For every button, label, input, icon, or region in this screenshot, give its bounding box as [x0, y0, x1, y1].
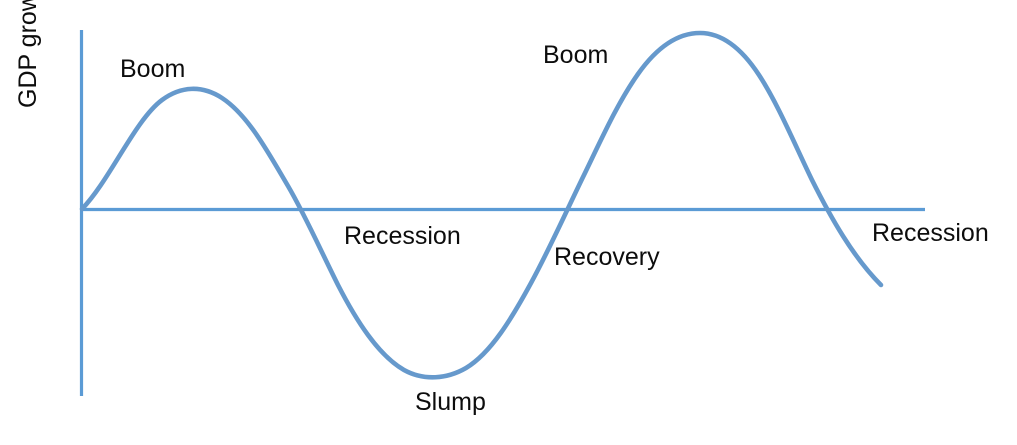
business-cycle-chart: GDP growth Boom Recession Slump Recovery…	[0, 0, 1017, 445]
annotation-recession-second: Recession	[872, 221, 989, 246]
annotation-slump: Slump	[415, 390, 486, 415]
annotation-boom-second: Boom	[543, 43, 608, 68]
y-axis-title: GDP growth	[16, 0, 41, 108]
annotation-boom-first: Boom	[120, 57, 185, 82]
annotation-recession-first: Recession	[344, 224, 461, 249]
annotation-recovery: Recovery	[554, 245, 660, 270]
gdp-growth-curve	[82, 33, 881, 377]
